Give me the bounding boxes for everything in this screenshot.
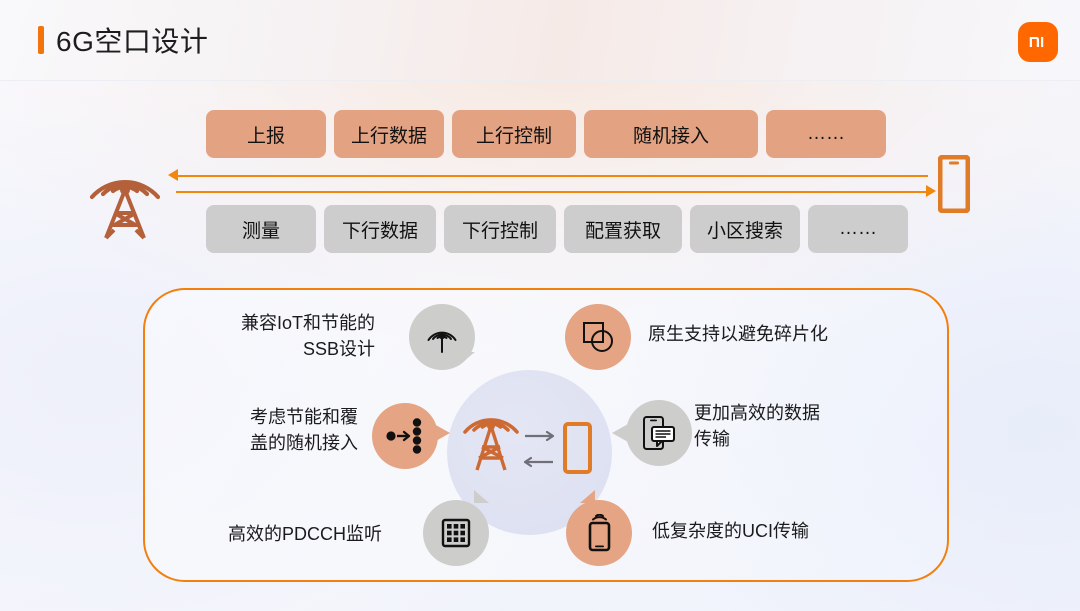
chip-downlink-1[interactable]: 下行数据: [324, 205, 436, 253]
uplink-arrow-head: [168, 169, 178, 181]
feature-bubble-tail-ssb: [459, 352, 475, 365]
feature-label-rach: 考虑节能和覆 盖的随机接入: [210, 404, 358, 456]
phone-signal-icon: [582, 514, 616, 552]
xiaomi-logo: [1018, 22, 1058, 62]
grid-icon: [438, 515, 474, 551]
slide-header: 6G空口设计: [0, 0, 1080, 81]
feature-bubble-uci[interactable]: [566, 500, 632, 566]
overlap-shapes-icon: [579, 318, 617, 356]
chip-downlink-5[interactable]: ……: [808, 205, 908, 253]
feature-label-ssb: 兼容IoT和节能的 SSB设计: [205, 310, 375, 362]
feature-bubble-tail-data: [612, 424, 628, 442]
phone-message-icon: [640, 414, 678, 452]
chip-uplink-0[interactable]: 上报: [206, 110, 326, 158]
title-accent-bar: [38, 26, 44, 54]
chip-uplink-3[interactable]: 随机接入: [584, 110, 758, 158]
feature-label-data: 更加高效的数据 传输: [694, 400, 894, 452]
chip-uplink-4[interactable]: ……: [766, 110, 886, 158]
base-station-tower-icon: [70, 135, 180, 240]
chip-uplink-1[interactable]: 上行数据: [334, 110, 444, 158]
slide-canvas: 6G空口设计: [0, 0, 1080, 611]
user-equipment-icon: [938, 155, 970, 213]
feature-bubble-tail-native: [578, 352, 594, 365]
chip-downlink-3[interactable]: 配置获取: [564, 205, 682, 253]
feature-bubble-tail-uci: [580, 490, 595, 503]
chip-downlink-0[interactable]: 测量: [206, 205, 316, 253]
chip-downlink-4[interactable]: 小区搜索: [690, 205, 800, 253]
downlink-arrow-head: [926, 185, 936, 197]
random-access-icon: [385, 418, 425, 454]
feature-bubble-tail-rach: [434, 424, 450, 442]
feature-bubble-tail-pdcch: [474, 490, 489, 503]
feature-bubble-rach[interactable]: [372, 403, 438, 469]
feature-label-uci: 低复杂度的UCI传输: [652, 518, 902, 544]
page-title: 6G空口设计: [56, 20, 208, 60]
downlink-arrow-line: [176, 191, 928, 193]
mi-logo-icon: [1027, 31, 1049, 53]
chip-downlink-2[interactable]: 下行控制: [444, 205, 556, 253]
feature-label-native: 原生支持以避免碎片化: [648, 321, 878, 347]
feature-bubble-pdcch[interactable]: [423, 500, 489, 566]
feature-label-pdcch: 高效的PDCCH监听: [186, 521, 382, 547]
chip-uplink-2[interactable]: 上行控制: [452, 110, 576, 158]
feature-bubble-data[interactable]: [626, 400, 692, 466]
uplink-arrow-line: [176, 175, 928, 177]
feature-bubble-native[interactable]: [565, 304, 631, 370]
broadcast-icon: [423, 318, 461, 356]
